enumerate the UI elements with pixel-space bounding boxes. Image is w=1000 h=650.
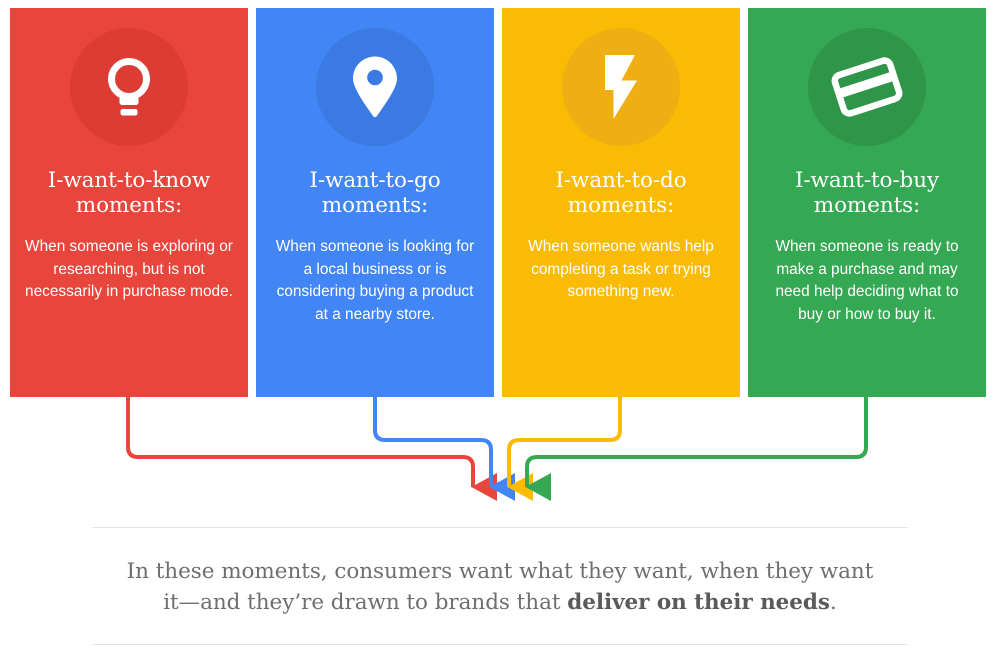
infographic-canvas: I-want-to-know moments: When someone is … xyxy=(0,0,1000,650)
icon-circle-go xyxy=(316,28,434,146)
footer-text-emphasis: deliver on their needs xyxy=(567,590,830,615)
icon-circle-know xyxy=(70,28,188,146)
divider-bottom xyxy=(92,644,908,645)
footer-text-tail: . xyxy=(830,590,837,615)
moment-card-i-want-to-go[interactable]: I-want-to-go moments: When someone is lo… xyxy=(256,8,494,397)
card-body: When someone is looking for a local busi… xyxy=(256,236,494,326)
card-heading: I-want-to-do moments: xyxy=(502,168,740,218)
icon-circle-do xyxy=(562,28,680,146)
connector-arrow-do xyxy=(509,397,620,487)
icon-circle-buy xyxy=(808,28,926,146)
card-body: When someone is ready to make a purchase… xyxy=(748,236,986,326)
card-heading: I-want-to-go moments: xyxy=(256,168,494,218)
moment-card-i-want-to-do[interactable]: I-want-to-do moments: When someone wants… xyxy=(502,8,740,397)
credit-card-icon xyxy=(831,56,903,118)
lightbulb-icon xyxy=(101,55,157,119)
moment-card-i-want-to-know[interactable]: I-want-to-know moments: When someone is … xyxy=(10,8,248,397)
connector-arrow-buy xyxy=(527,397,866,487)
card-heading: I-want-to-buy moments: xyxy=(748,168,986,218)
map-pin-icon xyxy=(351,55,399,119)
moment-card-i-want-to-buy[interactable]: I-want-to-buy moments: When someone is r… xyxy=(748,8,986,397)
footer-summary-text: In these moments, consumers want what th… xyxy=(120,556,880,618)
card-heading: I-want-to-know moments: xyxy=(10,168,248,218)
card-body: When someone wants help completing a tas… xyxy=(502,236,740,304)
divider-top xyxy=(92,527,908,528)
connector-arrow-go xyxy=(375,397,491,487)
connector-arrow-know xyxy=(128,397,473,487)
card-body: When someone is exploring or researching… xyxy=(10,236,248,304)
lightning-bolt-icon xyxy=(599,54,643,120)
